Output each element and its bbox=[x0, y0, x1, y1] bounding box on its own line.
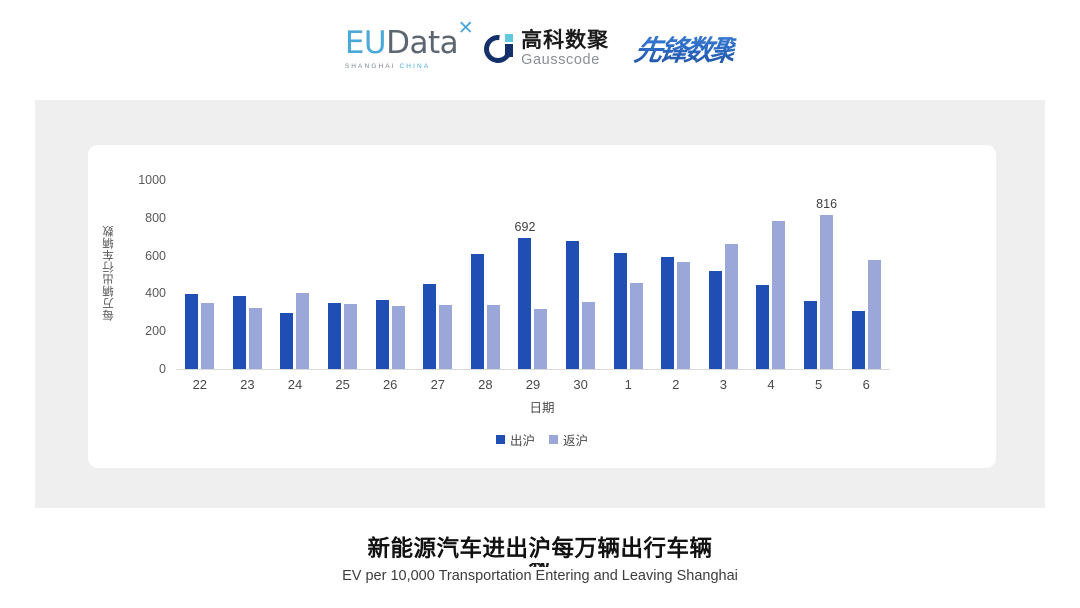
page-subtitle: EV per 10,000 Transportation Entering an… bbox=[0, 568, 1080, 584]
bar-in[interactable] bbox=[392, 306, 405, 370]
bar-group bbox=[176, 180, 224, 369]
bar-value-label: 692 bbox=[515, 220, 536, 234]
bar-group bbox=[700, 180, 748, 369]
bar-in[interactable] bbox=[439, 305, 452, 369]
legend-label: 返沪 bbox=[563, 430, 588, 449]
evdata-data-text: Data bbox=[386, 25, 458, 61]
bar-in[interactable] bbox=[296, 293, 309, 369]
legend-swatch bbox=[496, 435, 505, 444]
bar-out[interactable] bbox=[376, 300, 389, 369]
x-tick-label: 26 bbox=[383, 377, 397, 392]
legend-swatch bbox=[549, 435, 558, 444]
bar-value-label: 816 bbox=[816, 197, 837, 211]
bar-out[interactable] bbox=[233, 296, 246, 369]
logo-bar: EUData ✕ SHANGHAI CHINA 高科数聚 Gausscode 先… bbox=[0, 18, 1080, 80]
gausscode-c-mark-icon bbox=[484, 34, 514, 64]
bar-group bbox=[842, 180, 890, 369]
bar-out[interactable] bbox=[566, 241, 579, 369]
gausscode-name-cn: 高科数聚 bbox=[521, 30, 609, 51]
bar-chart: 每万辆出行车辆数 10008006004002000 692816 222324… bbox=[88, 145, 996, 468]
chart-legend: 出沪返沪 bbox=[88, 430, 996, 449]
bar-group bbox=[747, 180, 795, 369]
bar-group bbox=[462, 180, 510, 369]
y-tick-label: 800 bbox=[126, 211, 166, 225]
xianfeng-name-cn: 先锋数聚 bbox=[632, 29, 738, 69]
x-tick-label: 27 bbox=[431, 377, 445, 392]
bar-group bbox=[366, 180, 414, 369]
y-axis-title: 每万辆出行车辆数 bbox=[100, 225, 116, 321]
bar-in[interactable] bbox=[249, 308, 262, 369]
evdata-tagline-country: CHINA bbox=[400, 63, 431, 70]
evdata-tagline-city: SHANGHAI bbox=[345, 63, 396, 70]
logo-evdata: EUData ✕ SHANGHAI CHINA bbox=[345, 28, 458, 70]
x-tick-label: 24 bbox=[288, 377, 302, 392]
x-axis-line bbox=[176, 369, 890, 370]
x-tick-label: 25 bbox=[335, 377, 349, 392]
evdata-wordmark: EUData ✕ bbox=[345, 28, 458, 59]
bar-out[interactable] bbox=[471, 254, 484, 369]
y-axis-ticks: 10008006004002000 bbox=[118, 145, 166, 468]
bar-in[interactable] bbox=[344, 304, 357, 369]
bar-in[interactable] bbox=[201, 303, 214, 369]
page-title: 新能源汽车进出沪每万辆出行车辆 bbox=[0, 531, 1080, 563]
bar-group bbox=[652, 180, 700, 369]
bar-group bbox=[414, 180, 462, 369]
bar-out[interactable] bbox=[614, 253, 627, 369]
legend-label: 出沪 bbox=[510, 430, 535, 449]
bar-out[interactable]: 692 bbox=[518, 238, 531, 369]
evdata-tagline: SHANGHAI CHINA bbox=[345, 63, 430, 70]
y-tick-label: 1000 bbox=[126, 173, 166, 187]
x-mark-icon: ✕ bbox=[458, 19, 473, 38]
x-tick-label: 29 bbox=[526, 377, 540, 392]
plot-area: 692816 bbox=[176, 180, 890, 369]
bar-out[interactable] bbox=[185, 294, 198, 369]
y-tick-label: 600 bbox=[126, 249, 166, 263]
bar-out[interactable] bbox=[756, 285, 769, 369]
bar-out[interactable] bbox=[709, 271, 722, 369]
bar-group bbox=[604, 180, 652, 369]
x-tick-label: 6 bbox=[863, 377, 870, 392]
bar-in[interactable] bbox=[582, 302, 595, 369]
bar-in[interactable] bbox=[534, 309, 547, 369]
bar-group: 816 bbox=[795, 180, 843, 369]
y-tick-label: 400 bbox=[126, 286, 166, 300]
bar-out[interactable] bbox=[804, 301, 817, 369]
bar-in[interactable] bbox=[868, 260, 881, 369]
evdata-ev-text: EU bbox=[345, 25, 386, 61]
bar-group: 692 bbox=[509, 180, 557, 369]
chart-card: 每万辆出行车辆数 10008006004002000 692816 222324… bbox=[88, 145, 996, 468]
chart-panel: 每万辆出行车辆数 10008006004002000 692816 222324… bbox=[35, 100, 1045, 508]
bar-out[interactable] bbox=[328, 303, 341, 369]
bar-out[interactable] bbox=[852, 311, 865, 369]
bar-in[interactable] bbox=[725, 244, 738, 369]
x-tick-label: 23 bbox=[240, 377, 254, 392]
bar-out[interactable] bbox=[280, 313, 293, 369]
bar-in[interactable]: 816 bbox=[820, 215, 833, 369]
x-axis-title: 日期 bbox=[88, 397, 996, 416]
x-tick-label: 28 bbox=[478, 377, 492, 392]
logo-xianfeng: 先锋数聚 bbox=[635, 29, 735, 69]
x-tick-label: 1 bbox=[625, 377, 632, 392]
x-tick-label: 2 bbox=[672, 377, 679, 392]
bar-in[interactable] bbox=[630, 283, 643, 369]
bar-group bbox=[271, 180, 319, 369]
gausscode-name-en: Gausscode bbox=[521, 53, 609, 68]
bar-in[interactable] bbox=[772, 221, 785, 369]
logo-gausscode: 高科数聚 Gausscode bbox=[484, 30, 609, 68]
bar-group bbox=[224, 180, 272, 369]
x-tick-label: 5 bbox=[815, 377, 822, 392]
legend-item[interactable]: 出沪 bbox=[496, 430, 535, 449]
y-tick-label: 200 bbox=[126, 324, 166, 338]
x-tick-label: 22 bbox=[193, 377, 207, 392]
legend-item[interactable]: 返沪 bbox=[549, 430, 588, 449]
bar-in[interactable] bbox=[487, 305, 500, 369]
bar-out[interactable] bbox=[661, 257, 674, 369]
bar-in[interactable] bbox=[677, 262, 690, 369]
x-tick-label: 4 bbox=[767, 377, 774, 392]
y-tick-label: 0 bbox=[126, 362, 166, 376]
x-tick-label: 30 bbox=[573, 377, 587, 392]
bar-group bbox=[557, 180, 605, 369]
bar-out[interactable] bbox=[423, 284, 436, 369]
x-tick-label: 3 bbox=[720, 377, 727, 392]
slide-root: EUData ✕ SHANGHAI CHINA 高科数聚 Gausscode 先… bbox=[0, 0, 1080, 608]
bar-group bbox=[319, 180, 367, 369]
